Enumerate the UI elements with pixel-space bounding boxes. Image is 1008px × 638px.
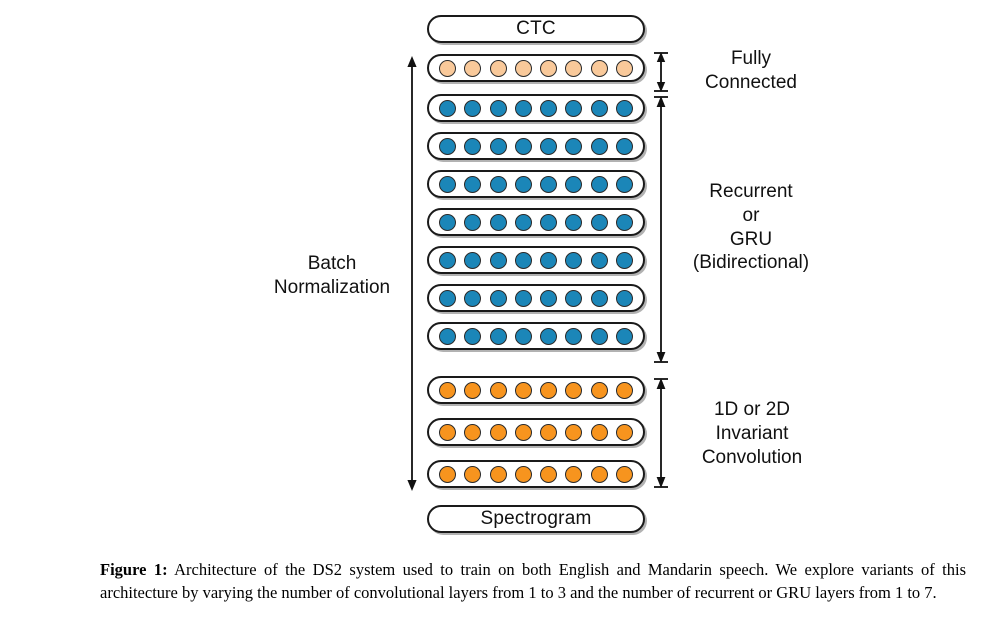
node [464,424,481,441]
node [616,100,633,117]
node [515,382,532,399]
node [616,60,633,77]
node [515,290,532,307]
node [439,424,456,441]
node [439,466,456,483]
layer-recurrent-6 [427,284,645,312]
node [540,382,557,399]
node [616,214,633,231]
node [515,328,532,345]
node [616,328,633,345]
convolution-arrow [654,378,668,488]
node [464,176,481,193]
node [540,252,557,269]
node [591,138,608,155]
node [616,176,633,193]
node [591,466,608,483]
node [490,138,507,155]
node [591,100,608,117]
node [565,328,582,345]
node [616,290,633,307]
layer-recurrent-7 [427,322,645,350]
node [591,382,608,399]
node [490,328,507,345]
node [515,176,532,193]
node [616,382,633,399]
node [565,382,582,399]
node [515,424,532,441]
node [591,290,608,307]
node [490,466,507,483]
node [540,176,557,193]
label-batch-normalization: Batch Normalization [262,252,402,300]
node [439,290,456,307]
node [540,214,557,231]
node [565,214,582,231]
node [490,176,507,193]
label-fully-connected: Fully Connected [676,47,826,95]
node [464,290,481,307]
node [540,138,557,155]
node [439,176,456,193]
node [565,466,582,483]
label-convolution: 1D or 2D Invariant Convolution [672,398,832,469]
node [591,176,608,193]
node [616,424,633,441]
node [565,176,582,193]
batch-normalization-arrow [407,56,416,491]
node [464,100,481,117]
layer-fully-connected-1 [427,54,645,82]
node [540,100,557,117]
layer-recurrent-2 [427,132,645,160]
node [616,138,633,155]
ctc-box: CTC [427,15,645,43]
node [439,382,456,399]
node [515,100,532,117]
node [439,214,456,231]
node [464,252,481,269]
node [591,214,608,231]
node [490,100,507,117]
node [591,424,608,441]
node [540,60,557,77]
layer-recurrent-1 [427,94,645,122]
node [464,328,481,345]
node [439,100,456,117]
node [464,214,481,231]
node [490,252,507,269]
layer-recurrent-5 [427,246,645,274]
node [565,138,582,155]
node [540,290,557,307]
node [464,60,481,77]
node [439,138,456,155]
node [565,252,582,269]
figure-caption-text: Architecture of the DS2 system used to t… [100,560,966,602]
node [565,100,582,117]
label-recurrent-gru: Recurrent or GRU (Bidirectional) [666,180,836,275]
node [540,466,557,483]
figure-caption-label: Figure 1: [100,560,168,579]
node [515,138,532,155]
layer-convolution-1 [427,376,645,404]
layer-convolution-3 [427,460,645,488]
node [490,214,507,231]
node [515,252,532,269]
node [439,328,456,345]
figure-caption: Figure 1: Architecture of the DS2 system… [100,558,966,605]
node [464,466,481,483]
node [439,252,456,269]
node [515,466,532,483]
node [591,328,608,345]
node [616,466,633,483]
figure-architecture-diagram: CTC [0,0,1008,638]
node [490,60,507,77]
node [565,60,582,77]
layer-recurrent-4 [427,208,645,236]
node [565,424,582,441]
ctc-label: CTC [516,18,556,40]
node [540,328,557,345]
spectrogram-label: Spectrogram [481,508,592,530]
node [490,424,507,441]
layer-recurrent-3 [427,170,645,198]
layer-convolution-2 [427,418,645,446]
fully-connected-arrow [654,52,668,92]
node [464,138,481,155]
node [591,60,608,77]
node [591,252,608,269]
node [540,424,557,441]
node [490,290,507,307]
node [464,382,481,399]
node [565,290,582,307]
node [515,214,532,231]
node [439,60,456,77]
node [515,60,532,77]
node [490,382,507,399]
node [616,252,633,269]
spectrogram-box: Spectrogram [427,505,645,533]
